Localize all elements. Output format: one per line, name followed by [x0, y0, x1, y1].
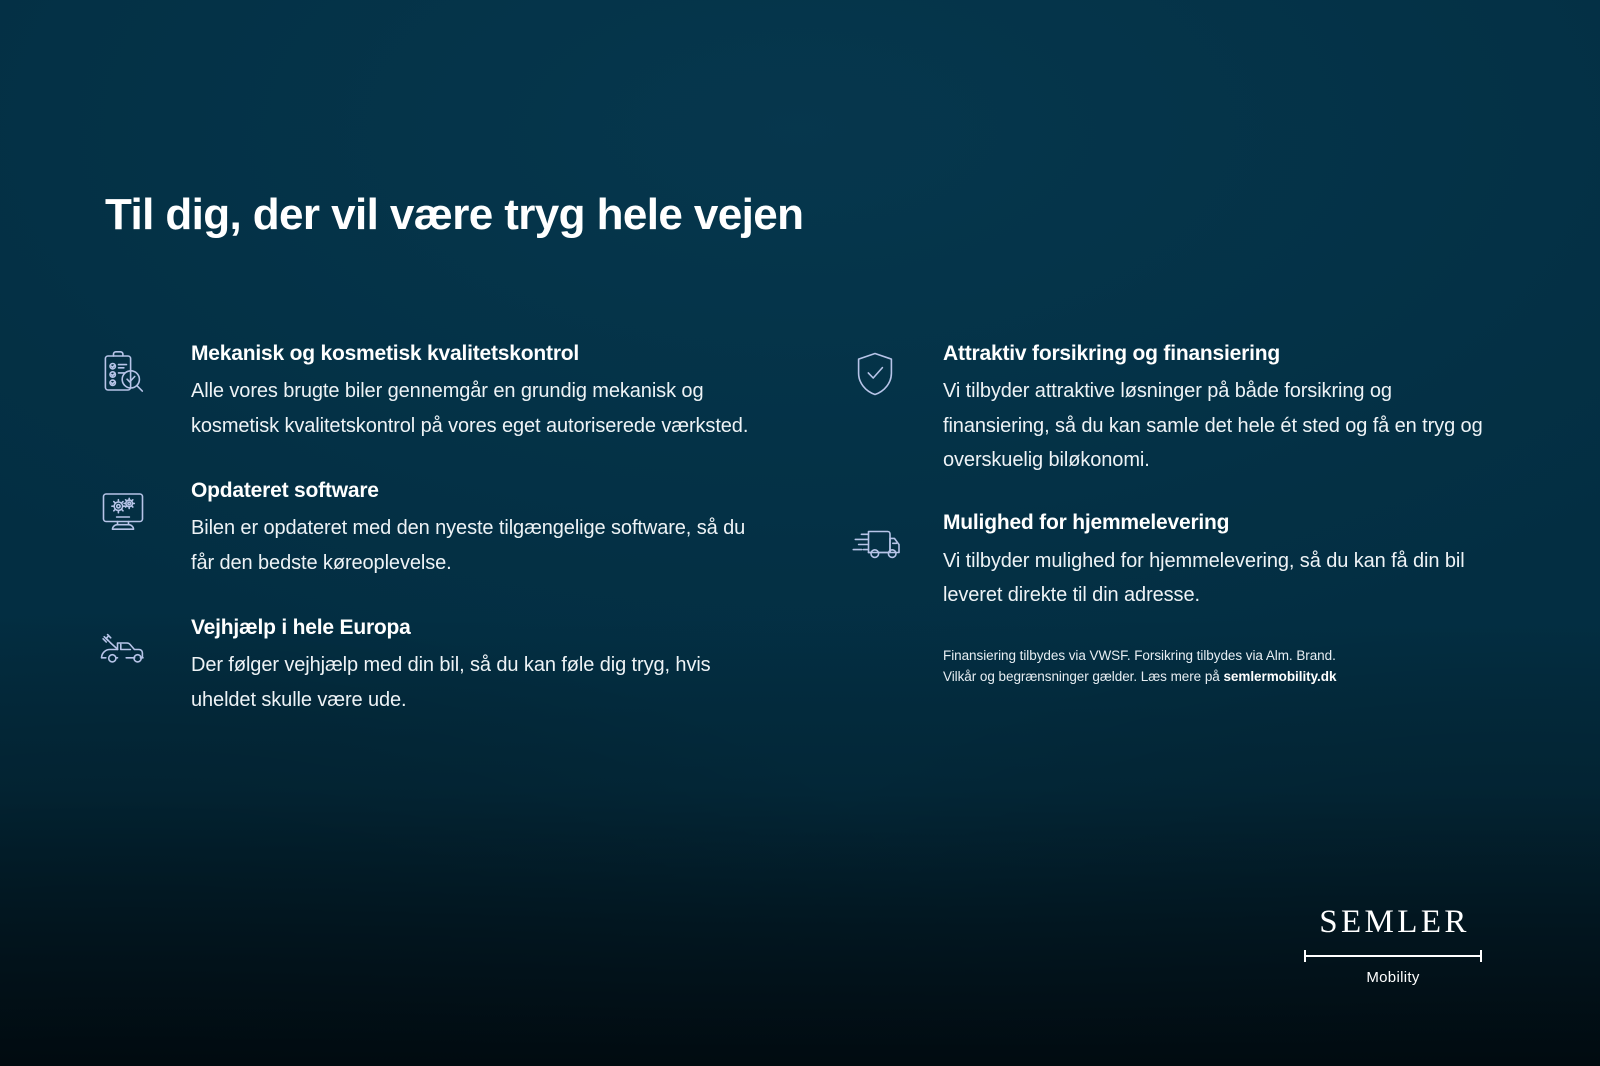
delivery-truck-icon: [847, 509, 943, 571]
feature-description: Bilen er opdateret med den nyeste tilgæn…: [191, 511, 751, 580]
feature-item-home-delivery: Mulighed for hjemmelevering Vi tilbyder …: [847, 509, 1515, 612]
feature-item-software: Opdateret software Bilen er opdateret me…: [95, 477, 763, 580]
feature-item-insurance-financing: Attraktiv forsikring og finansiering Vi …: [847, 340, 1515, 477]
feature-description: Vi tilbyder mulighed for hjemmelevering,…: [943, 544, 1503, 613]
promo-panel: Til dig, der vil være tryg hele vejen: [0, 0, 1600, 1066]
feature-item-quality-control: Mekanisk og kosmetisk kvalitetskontrol A…: [95, 340, 763, 443]
shield-check-icon: [847, 340, 943, 402]
feature-body: Vejhjælp i hele Europa Der følger vejhjæ…: [191, 614, 763, 717]
legal-line-2: Vilkår og begrænsninger gælder. Læs mere…: [943, 666, 1463, 688]
feature-title: Mulighed for hjemmelevering: [943, 509, 1515, 536]
feature-body: Mekanisk og kosmetisk kvalitetskontrol A…: [191, 340, 763, 443]
logo-subtitle: Mobility: [1300, 969, 1486, 986]
feature-column-left: Mekanisk og kosmetisk kvalitetskontrol A…: [95, 340, 763, 717]
legal-website-link[interactable]: semlermobility.dk: [1223, 669, 1336, 684]
logo-rule-cap-right: [1480, 950, 1482, 962]
logo-divider-rule: [1300, 950, 1486, 962]
feature-description: Alle vores brugte biler gennemgår en gru…: [191, 374, 751, 443]
feature-body: Mulighed for hjemmelevering Vi tilbyder …: [943, 509, 1515, 612]
feature-column-right: Attraktiv forsikring og finansiering Vi …: [847, 340, 1515, 717]
feature-title: Opdateret software: [191, 477, 763, 504]
feature-title: Attraktiv forsikring og finansiering: [943, 340, 1515, 367]
feature-title: Mekanisk og kosmetisk kvalitetskontrol: [191, 340, 763, 367]
feature-description: Vi tilbyder attraktive løsninger på både…: [943, 374, 1503, 477]
legal-line-2-text: Vilkår og begrænsninger gælder. Læs mere…: [943, 669, 1223, 684]
feature-body: Attraktiv forsikring og finansiering Vi …: [943, 340, 1515, 477]
semler-mobility-logo: SEMLER Mobility: [1300, 906, 1486, 986]
logo-rule-cap-left: [1304, 950, 1306, 962]
logo-wordmark: SEMLER: [1300, 906, 1486, 939]
feature-title: Vejhjælp i hele Europa: [191, 614, 763, 641]
feature-description: Der følger vejhjælp med din bil, så du k…: [191, 648, 751, 717]
legal-line-1: Finansiering tilbydes via VWSF. Forsikri…: [943, 645, 1463, 667]
clipboard-check-magnifier-icon: [95, 340, 191, 402]
feature-item-roadside-assistance: Vejhjælp i hele Europa Der følger vejhjæ…: [95, 614, 763, 717]
tow-truck-icon: [95, 614, 191, 676]
monitor-gears-icon: [95, 477, 191, 539]
feature-body: Opdateret software Bilen er opdateret me…: [191, 477, 763, 580]
page-title: Til dig, der vil være tryg hele vejen: [105, 190, 803, 240]
feature-columns: Mekanisk og kosmetisk kvalitetskontrol A…: [95, 340, 1515, 717]
legal-disclaimer: Finansiering tilbydes via VWSF. Forsikri…: [943, 645, 1463, 689]
